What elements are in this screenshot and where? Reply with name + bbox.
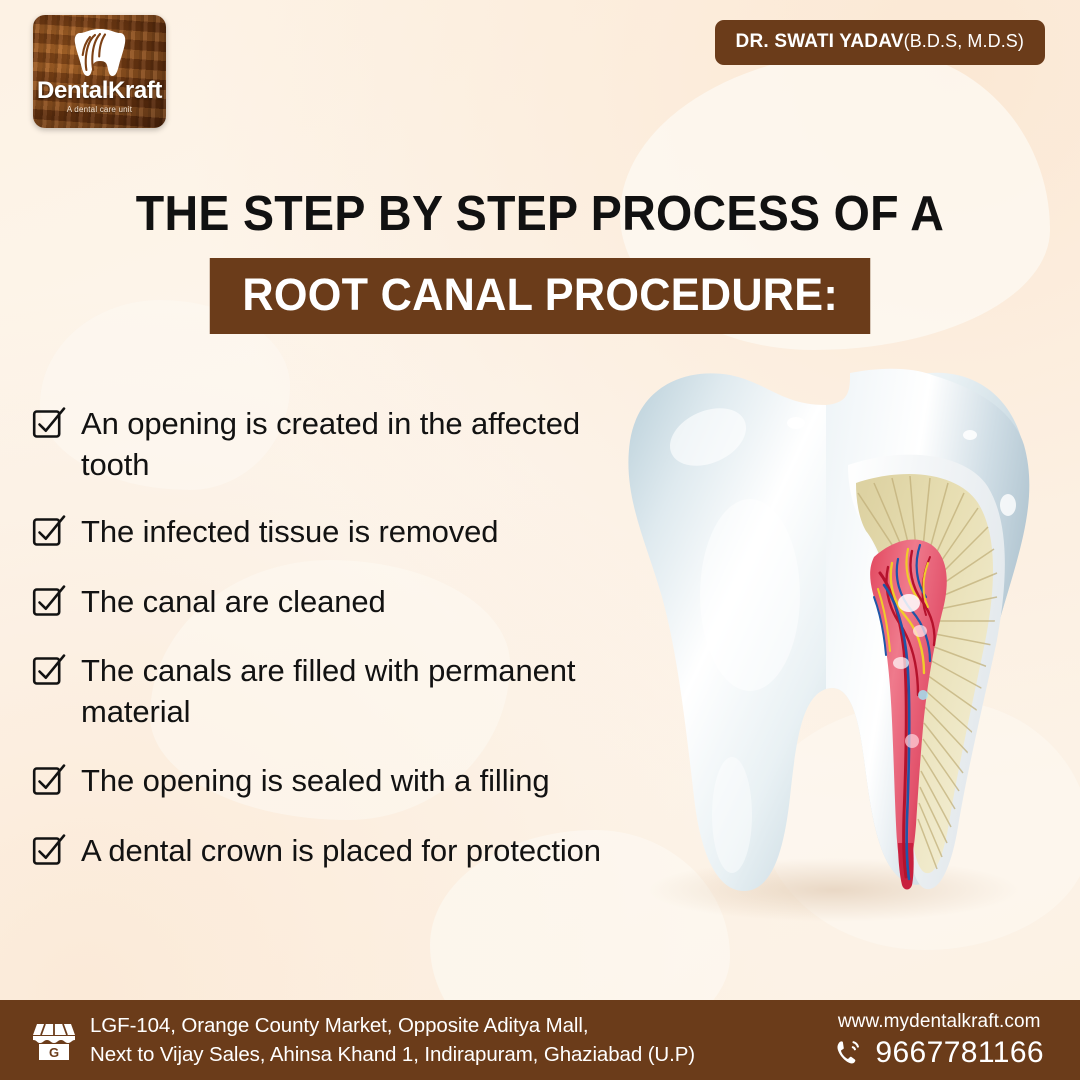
- phone-ringing-icon: [834, 1038, 864, 1068]
- poster-root: DentalKraft A dental care unit DR. SWATI…: [0, 0, 1080, 1080]
- footer-contact-group: www.mydentalkraft.com 9667781166: [834, 1011, 1044, 1070]
- procedure-checklist: An opening is created in the affected to…: [32, 403, 632, 899]
- checkbox-checked-icon: [32, 763, 66, 797]
- list-item-label: The canal are cleaned: [81, 581, 386, 622]
- list-item-label: An opening is created in the affected to…: [81, 403, 632, 485]
- list-item: A dental crown is placed for protection: [32, 830, 632, 871]
- doctor-name: DR. SWATI YADAV: [736, 31, 904, 52]
- logo-wordmark: DentalKraft: [33, 77, 166, 105]
- list-item-label: The canals are filled with permanent mat…: [81, 650, 632, 732]
- checkbox-checked-icon: [32, 584, 66, 618]
- storefront-icon: G: [32, 1018, 76, 1062]
- phone-row[interactable]: 9667781166: [834, 1036, 1044, 1070]
- list-item-label: A dental crown is placed for protection: [81, 830, 601, 871]
- footer-address-group: G LGF-104, Orange County Market, Opposit…: [32, 1011, 695, 1069]
- tooth-icon: [73, 28, 127, 78]
- checkbox-checked-icon: [32, 833, 66, 867]
- address-line-1: LGF-104, Orange County Market, Opposite …: [90, 1011, 695, 1040]
- footer-bar: G LGF-104, Orange County Market, Opposit…: [0, 1000, 1080, 1080]
- page-title-line1: THE STEP BY STEP PROCESS OF A: [27, 186, 1053, 242]
- page-title-line2: ROOT CANAL PROCEDURE:: [210, 258, 871, 334]
- logo-tagline: A dental care unit: [33, 105, 166, 114]
- enamel-sparkle: [963, 430, 977, 440]
- enamel-highlight: [712, 757, 752, 873]
- list-item: The infected tissue is removed: [32, 511, 632, 552]
- tooth-cross-section-illustration: [612, 345, 1052, 925]
- enamel-highlight: [700, 499, 800, 691]
- checkbox-checked-icon: [32, 514, 66, 548]
- list-item: An opening is created in the affected to…: [32, 403, 632, 485]
- website-link[interactable]: www.mydentalkraft.com: [834, 1011, 1044, 1033]
- checkbox-checked-icon: [32, 406, 66, 440]
- checkbox-checked-icon: [32, 653, 66, 687]
- svg-text:G: G: [49, 1045, 59, 1060]
- clinic-address: LGF-104, Orange County Market, Opposite …: [90, 1011, 695, 1069]
- list-item-label: The opening is sealed with a filling: [81, 760, 550, 801]
- list-item: The canals are filled with permanent mat…: [32, 650, 632, 732]
- pulp-highlight: [893, 657, 909, 669]
- pulp-highlight: [913, 625, 927, 637]
- phone-number: 9667781166: [875, 1036, 1044, 1070]
- enamel-sparkle: [1000, 494, 1016, 516]
- pulp-highlight: [918, 690, 928, 700]
- list-item: The canal are cleaned: [32, 581, 632, 622]
- page-title-line2-wrapper: ROOT CANAL PROCEDURE:: [0, 258, 1080, 334]
- tooth-shadow: [649, 858, 1019, 922]
- pulp-highlight: [898, 594, 920, 612]
- pulp-highlight: [905, 734, 919, 748]
- list-item: The opening is sealed with a filling: [32, 760, 632, 801]
- list-item-label: The infected tissue is removed: [81, 511, 498, 552]
- doctor-degrees: (B.D.S, M.D.S): [904, 31, 1024, 51]
- brand-logo[interactable]: DentalKraft A dental care unit: [33, 15, 166, 128]
- enamel-sparkle: [787, 417, 805, 429]
- address-line-2: Next to Vijay Sales, Ahinsa Khand 1, Ind…: [90, 1040, 695, 1069]
- doctor-badge: DR. SWATI YADAV(B.D.S, M.D.S): [715, 20, 1045, 65]
